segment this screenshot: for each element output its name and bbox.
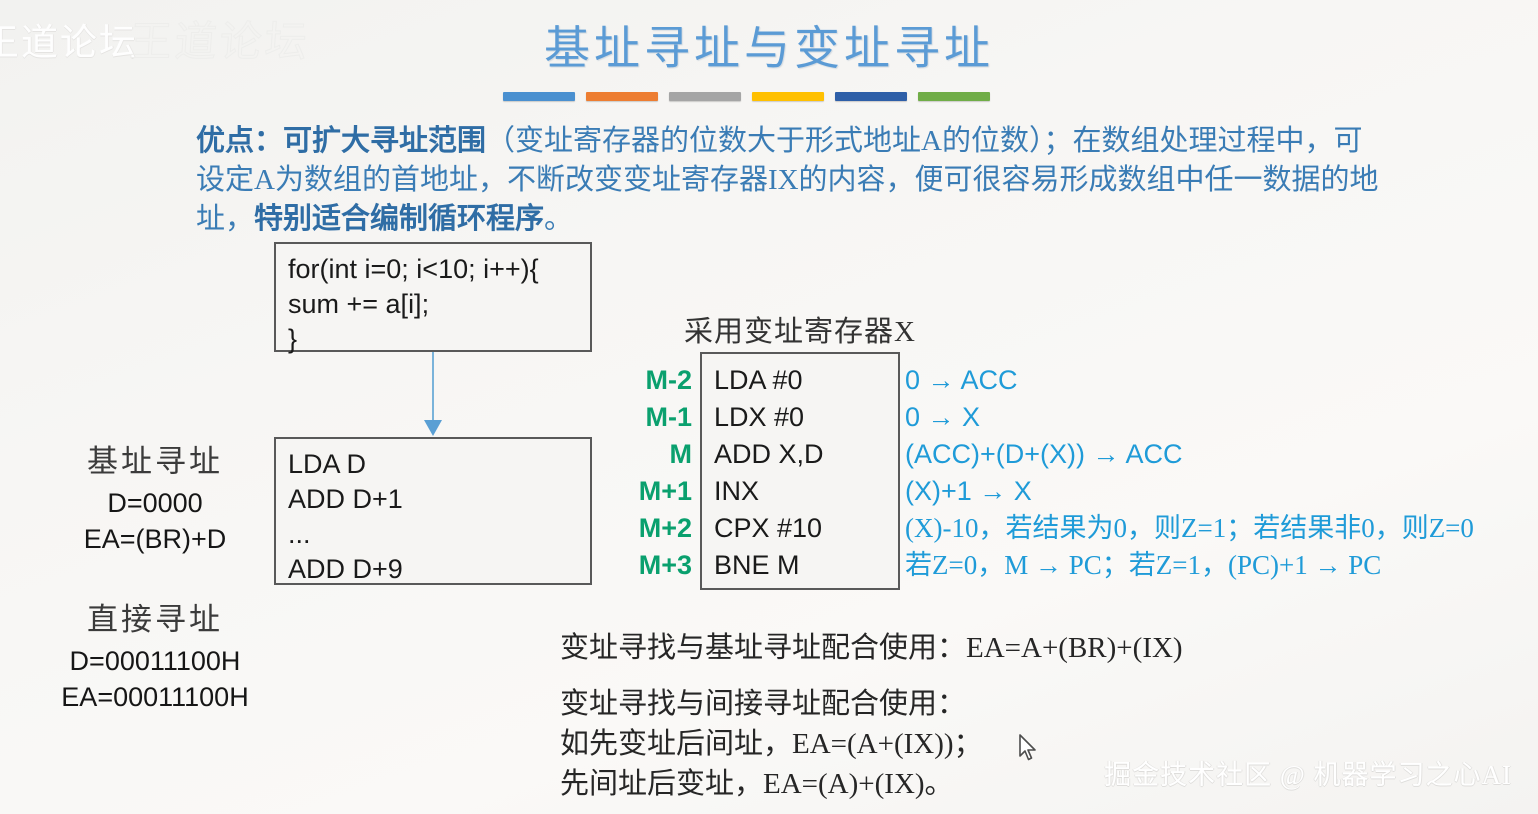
lda-box-line: LDA D	[288, 447, 590, 482]
instruction-line: LDX #0	[714, 399, 898, 436]
intro-paragraph: 优点：可扩大寻址范围（变址寄存器的位数大于形式地址A的位数）；在数组处理过程中，…	[196, 122, 1391, 239]
instruction-annotation: (ACC)+(D+(X)) → ACC	[905, 436, 1474, 473]
instruction-annotation: 若Z=0，M → PC；若Z=1，(PC)+1 → PC	[905, 547, 1474, 584]
rule-segment-3	[669, 92, 741, 101]
bottom-paragraph-base-combo: 变址寻找与基址寻址配合使用：EA=A+(BR)+(IX)	[560, 628, 1183, 668]
base-addressing-line: EA=(BR)+D	[40, 521, 270, 557]
bottom-paragraph-line: 变址寻找与间接寻址配合使用：	[560, 684, 983, 724]
base-addressing-block: 基址寻址 D=0000 EA=(BR)+D	[40, 436, 270, 557]
bottom-paragraph-line: 先间址后变址，EA=(A)+(IX)。	[560, 764, 983, 804]
instruction-listing-box: LDA #0 LDX #0 ADD X,D INX CPX #10 BNE M	[700, 352, 900, 590]
rule-segment-2	[586, 92, 658, 101]
rule-segment-1	[503, 92, 575, 101]
lda-box-line: ADD D+9	[288, 552, 590, 587]
rule-segment-6	[918, 92, 990, 101]
instruction-annotation: (X)-10，若结果为0，则Z=1；若结果非0，则Z=0	[905, 510, 1474, 547]
rule-segment-4	[752, 92, 824, 101]
base-addressing-line: D=0000	[40, 485, 270, 521]
instruction-annotation: 0 → X	[905, 399, 1474, 436]
direct-addressing-block: 直接寻址 D=00011100H EA=00011100H	[40, 594, 270, 715]
memory-address-label: M	[608, 436, 692, 473]
direct-addressing-heading: 直接寻址	[40, 594, 270, 639]
page-title: 基址寻址与变址寻址	[0, 12, 1538, 78]
for-box-line: }	[288, 322, 590, 357]
intro-bold-tail: 特别适合编制循环程序	[254, 203, 544, 235]
instruction-annotation: 0 → ACC	[905, 362, 1474, 399]
base-addressing-heading: 基址寻址	[40, 436, 270, 481]
lda-box-line: ...	[288, 517, 590, 552]
instruction-annotation-column: 0 → ACC 0 → X (ACC)+(D+(X)) → ACC (X)+1 …	[905, 362, 1474, 584]
for-box-line: for(int i=0; i<10; i++){	[288, 252, 590, 287]
direct-addressing-line: EA=00011100H	[40, 679, 270, 715]
flow-arrow-shaft	[432, 352, 434, 424]
instruction-annotation: (X)+1 → X	[905, 473, 1474, 510]
bottom-paragraph-line: 如先变址后间址，EA=(A+(IX))；	[560, 724, 983, 764]
bottom-paragraph-indirect-combo: 变址寻找与间接寻址配合使用： 如先变址后间址，EA=(A+(IX))； 先间址后…	[560, 684, 983, 804]
rule-segment-5	[835, 92, 907, 101]
instruction-line: ADD X,D	[714, 436, 898, 473]
flow-arrow-head-icon	[424, 420, 442, 436]
memory-address-label: M+1	[608, 473, 692, 510]
lda-box-line: ADD D+1	[288, 482, 590, 517]
instruction-line: CPX #10	[714, 510, 898, 547]
title-rule-decoration	[503, 92, 990, 101]
base-address-code-box: LDA D ADD D+1 ... ADD D+9	[274, 437, 592, 585]
instruction-line: LDA #0	[714, 362, 898, 399]
mouse-cursor-icon	[1018, 734, 1038, 762]
instruction-line: INX	[714, 473, 898, 510]
register-section-heading: 采用变址寄存器X	[684, 308, 916, 350]
direct-addressing-line: D=00011100H	[40, 643, 270, 679]
for-loop-code-box: for(int i=0; i<10; i++){ sum += a[i]; }	[274, 242, 592, 352]
intro-period: 。	[544, 203, 573, 235]
memory-address-label: M+2	[608, 510, 692, 547]
watermark-bottom-right: 掘金技术社区 @ 机器学习之心AI	[1104, 753, 1512, 792]
intro-bold-lead: 优点：可扩大寻址范围	[196, 125, 486, 157]
memory-address-column: M-2 M-1 M M+1 M+2 M+3	[608, 362, 692, 584]
memory-address-label: M-2	[608, 362, 692, 399]
memory-address-label: M-1	[608, 399, 692, 436]
for-box-line: sum += a[i];	[288, 287, 590, 322]
instruction-line: BNE M	[714, 547, 898, 584]
memory-address-label: M+3	[608, 547, 692, 584]
slide-canvas: 王道论坛 王道论坛 掘金技术社区 @ 机器学习之心AI 基址寻址与变址寻址 优点…	[0, 0, 1538, 814]
